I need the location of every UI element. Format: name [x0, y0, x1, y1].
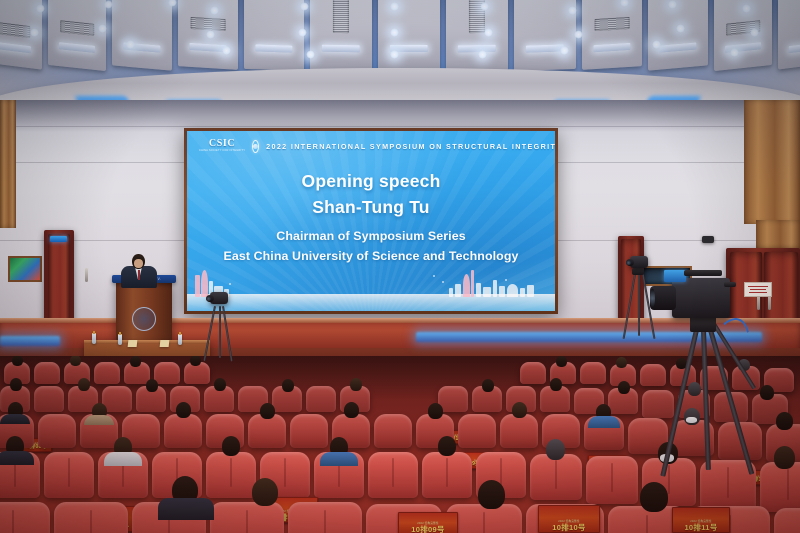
seat[interactable]: [500, 414, 538, 448]
seat[interactable]: [34, 386, 64, 412]
audience-head: [640, 482, 668, 512]
seat[interactable]: [0, 502, 50, 533]
audience-head: [546, 439, 565, 460]
seat[interactable]: [642, 390, 674, 418]
university-crest-icon: [132, 307, 156, 331]
ceiling-downlight: [104, 0, 113, 9]
seat[interactable]: [458, 414, 496, 448]
seat[interactable]: [580, 362, 606, 384]
seat[interactable]: [306, 386, 336, 412]
ceiling-downlight: [668, 0, 677, 9]
ceiling-downlight: [222, 46, 231, 55]
ceiling-downlight: [560, 46, 569, 55]
seat[interactable]: [44, 452, 94, 498]
seat[interactable]: [54, 502, 128, 533]
ceiling-downlight: [126, 40, 135, 49]
ceiling-beam: [582, 0, 642, 70]
seat[interactable]: [774, 508, 800, 533]
audience-head: [760, 385, 774, 400]
door-notice-right: [744, 282, 772, 297]
csic-logo-text: CSIC: [209, 139, 235, 149]
audience-head: [618, 381, 630, 394]
seat[interactable]: [38, 414, 76, 448]
face-mask: [686, 417, 697, 423]
seat[interactable]: [586, 456, 638, 504]
ceiling-downlight: [750, 28, 759, 37]
ceiling-downlight: [574, 30, 583, 39]
ceiling-downlight: [210, 6, 219, 15]
wood-trim-right: [744, 100, 800, 224]
placard-number: 10排09号: [411, 526, 444, 533]
ceiling-downlight: [98, 24, 107, 33]
camera-monitor-screen[interactable]: [664, 270, 686, 282]
ceiling-downlight: [390, 2, 399, 11]
ceiling-downlight: [206, 30, 215, 39]
water-bottle: [178, 334, 182, 345]
slide-skyline-graphic: [187, 269, 555, 311]
ceiling-beam: [112, 0, 172, 71]
ceiling-downlight: [30, 28, 39, 37]
audience-head: [478, 480, 505, 509]
audience-head: [350, 378, 362, 391]
audience-head: [616, 357, 627, 368]
audience-shoulders: [588, 416, 620, 428]
audience-head: [774, 446, 795, 469]
slide-line-4: East China University of Science and Tec…: [187, 249, 555, 263]
seat[interactable]: [164, 414, 202, 448]
ceiling-beam: [48, 0, 106, 71]
seat-placard: 2022 结构完整性 10排11号: [672, 507, 730, 533]
camera-microphone: [724, 282, 736, 287]
seat[interactable]: [530, 454, 582, 500]
seat[interactable]: [520, 362, 546, 384]
slide-line-2: Shan-Tung Tu: [187, 197, 555, 218]
audience-head: [130, 356, 141, 367]
ceiling-beam: [446, 0, 508, 72]
projection-screen: CSIC CHINA SOCIETY FOR INTEGRITY 2022 IN…: [187, 131, 555, 311]
audience-head: [438, 436, 456, 456]
ceiling-downlight: [390, 28, 399, 37]
placard-number: 10排10号: [552, 524, 585, 533]
audience-head: [78, 378, 90, 391]
seat[interactable]: [154, 362, 180, 384]
ceiling-beam: [778, 0, 800, 69]
water-bottle: [118, 334, 122, 345]
ceiling-downlight: [480, 2, 489, 11]
speaker-tie: [138, 270, 141, 280]
ceiling-downlight: [568, 6, 577, 15]
camera-head: [632, 268, 644, 275]
projection-screen-frame: CSIC CHINA SOCIETY FOR INTEGRITY 2022 IN…: [184, 128, 558, 314]
csic-logo-subtext: CHINA SOCIETY FOR INTEGRITY: [199, 150, 245, 153]
audience-head: [482, 379, 494, 392]
audience-head: [10, 378, 22, 391]
ceiling-camera-mount: [702, 236, 714, 243]
placard-number: 10排11号: [684, 524, 717, 533]
ceiling-downlight: [298, 28, 307, 37]
audience-head: [222, 436, 240, 456]
seat[interactable]: [210, 502, 284, 533]
seal-emblem-icon: [252, 140, 259, 153]
symposium-title: 2022 INTERNATIONAL SYMPOSIUM ON STRUCTUR…: [266, 142, 555, 151]
audience-head: [12, 356, 23, 366]
csic-logo: CSIC CHINA SOCIETY FOR INTEGRITY: [199, 139, 245, 153]
stage-led-strip: [0, 336, 60, 346]
audience-head: [146, 379, 158, 392]
slide-header: CSIC CHINA SOCIETY FOR INTEGRITY 2022 IN…: [187, 137, 555, 155]
seat-placard: 2022 结构完整性 10排10号: [538, 505, 600, 533]
seat[interactable]: [374, 414, 412, 448]
audience-seating-area: 2022 结构完整性 7排08号 2022 结构完整性 8排10号: [0, 356, 800, 533]
auditorium-photo: CSIC CHINA SOCIETY FOR INTEGRITY 2022 IN…: [0, 0, 800, 533]
camera-lens-icon: [206, 295, 214, 302]
ceiling-downlight: [484, 28, 493, 37]
wood-trim-left: [0, 100, 16, 228]
seat[interactable]: [94, 362, 120, 384]
camera-top-handle[interactable]: [684, 270, 722, 276]
exit-sign-left: [50, 236, 67, 242]
name-card: [128, 340, 138, 347]
audience-shoulders: [84, 415, 114, 425]
seat[interactable]: [640, 364, 666, 386]
seat[interactable]: [760, 462, 800, 512]
ceiling-downlight: [306, 50, 315, 59]
tripod-head: [690, 316, 716, 332]
ceiling-downlight: [390, 50, 399, 59]
seat-placard: 2022 结构完整性 10排09号: [398, 512, 458, 533]
ceiling-beam: [378, 0, 440, 71]
slide-line-3: Chairman of Symposium Series: [187, 229, 555, 243]
audience-head: [176, 402, 191, 418]
slide-body: Opening speech Shan-Tung Tu Chairman of …: [187, 171, 555, 263]
audience-shoulders: [0, 414, 30, 424]
audience-head: [344, 402, 359, 418]
water-bottle: [92, 333, 96, 344]
audience-shoulders: [158, 498, 214, 520]
ceiling-beam: [244, 0, 304, 71]
ceiling-beam: [310, 0, 372, 72]
ceiling-downlight: [652, 40, 661, 49]
seat[interactable]: [34, 362, 60, 384]
audience-head: [512, 402, 527, 418]
ceiling-downlight: [478, 50, 487, 59]
seat[interactable]: [248, 414, 286, 448]
ceiling-downlight: [676, 24, 685, 33]
tripod-leg: [219, 306, 221, 358]
audience-head: [428, 403, 443, 419]
name-card: [160, 340, 170, 347]
wood-trim-right-lower: [756, 220, 800, 250]
ceiling-downlight: [36, 4, 45, 13]
video-camera-on-tripod[interactable]: [672, 278, 730, 318]
seat[interactable]: [368, 452, 418, 498]
wall-monitor-left: [8, 256, 42, 282]
audience-head: [556, 356, 567, 367]
speaker-face: [134, 259, 143, 268]
audience-head: [776, 412, 793, 430]
audience-shoulders: [104, 452, 142, 466]
audience-head: [70, 356, 81, 366]
audience-head: [282, 379, 294, 392]
tripod-leg: [638, 274, 640, 336]
audience-shoulders: [320, 452, 358, 466]
camera-lens-icon: [650, 286, 676, 310]
ceiling-beam: [648, 0, 708, 71]
audience-head: [214, 378, 226, 391]
door-handle-left[interactable]: [85, 268, 88, 282]
audience-head: [550, 378, 562, 391]
seat[interactable]: [422, 452, 472, 498]
ceiling-beam: [514, 0, 576, 71]
camera-lens-icon: [626, 259, 634, 266]
ceiling-downlight: [742, 4, 751, 13]
audience-shoulders: [0, 451, 34, 465]
audience-head: [252, 478, 278, 506]
seat[interactable]: [290, 414, 328, 448]
audience-head: [260, 403, 275, 419]
audience-head: [190, 356, 201, 366]
ceiling-downlight: [730, 48, 739, 57]
slide-line-1: Opening speech: [187, 171, 555, 192]
seat[interactable]: [288, 502, 362, 533]
seat[interactable]: [206, 452, 256, 498]
ceiling-downlight: [300, 2, 309, 11]
